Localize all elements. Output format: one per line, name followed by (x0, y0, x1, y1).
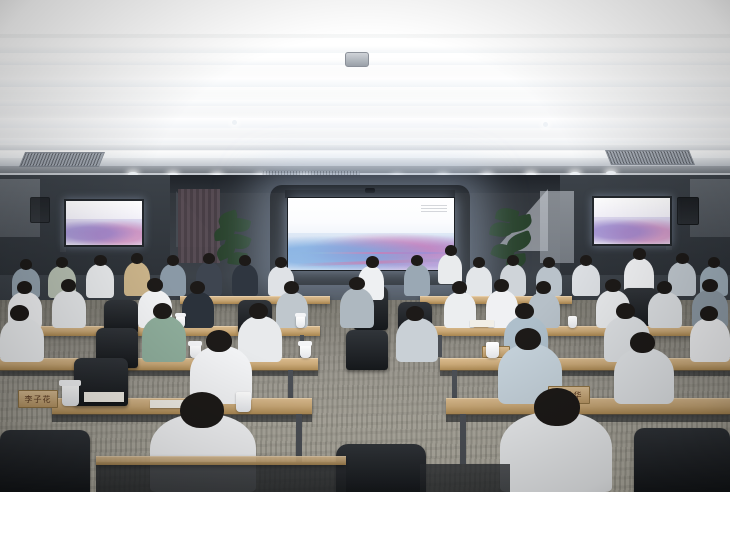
tea-cup (236, 392, 251, 412)
tea-cup (296, 316, 305, 328)
wall-speaker (677, 197, 699, 225)
main-screen-horizon (288, 252, 454, 254)
screenshot-root: 李子花 张美华 (0, 0, 730, 548)
ceiling-sensor (345, 52, 369, 67)
tea-cup (486, 342, 499, 358)
left-screen-cityscape (66, 219, 142, 245)
right-screen-cityscape (594, 217, 670, 244)
air-vent (19, 152, 105, 167)
ceiling-light-strip (0, 118, 730, 128)
left-nameplate-text: 李子花 (25, 394, 52, 405)
ceiling (0, 0, 730, 186)
left-nameplate: 李子花 (18, 390, 58, 408)
ceiling-camera-icon (365, 188, 375, 193)
ceiling-light-strip (0, 78, 730, 87)
main-screen-watermark-logo (421, 205, 447, 212)
air-vent (605, 150, 695, 165)
ceiling-light-strip (0, 138, 730, 143)
sprinkler-icon (232, 120, 237, 125)
left-screen-sky (66, 201, 142, 221)
conference-room-photo: 李子花 张美华 (0, 0, 730, 492)
left-side-display[interactable] (64, 199, 144, 247)
tea-cup (62, 384, 79, 406)
ceiling-light-strip (0, 100, 730, 106)
wall-speaker (30, 197, 50, 223)
tea-cup (568, 316, 577, 328)
right-side-display[interactable] (592, 196, 672, 246)
tea-cup (300, 344, 311, 358)
right-screen-sky (594, 198, 670, 219)
wall-column (540, 191, 574, 263)
sprinkler-icon (543, 122, 548, 127)
